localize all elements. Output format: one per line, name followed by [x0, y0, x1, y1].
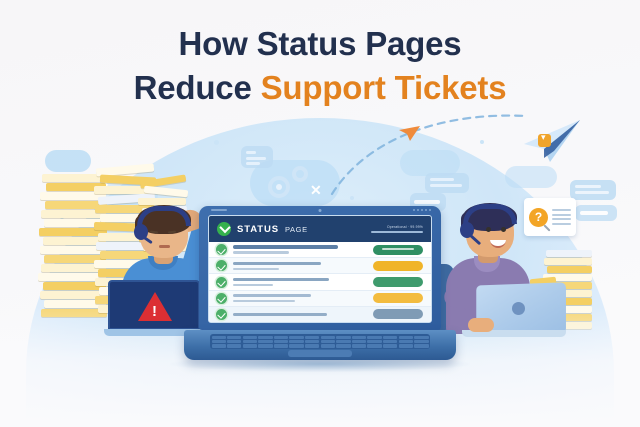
status-page-title: STATUS: [237, 224, 279, 235]
chat-bubble-icon: [241, 146, 273, 168]
check-circle-icon: [216, 293, 227, 304]
x-mark-icon: ✕: [310, 182, 322, 199]
status-badge: [373, 293, 423, 303]
title-line-2: Reduce Support Tickets: [0, 66, 640, 110]
gear-icon: [268, 176, 290, 198]
chat-bubble-icon: [575, 205, 617, 221]
poster-canvas: ✕ ✕: [0, 0, 640, 427]
laptop-trackpad[interactable]: [288, 350, 352, 357]
status-row-labels: [233, 262, 367, 271]
status-row[interactable]: [209, 307, 431, 322]
bezel-indicators: [413, 209, 431, 211]
warning-exclamation: !: [152, 304, 157, 319]
status-row-labels: [233, 245, 367, 254]
status-row-labels: [233, 294, 367, 303]
check-circle-icon: [216, 277, 227, 288]
decorative-dot: [214, 140, 219, 145]
check-circle-icon: [216, 260, 227, 271]
agent-eye-left: [486, 227, 491, 232]
laptop-lid: STATUS PAGE Operational · 99.99%: [199, 206, 441, 330]
happy-agent: [430, 192, 560, 337]
status-page-rows: [209, 242, 431, 322]
agent-hand: [468, 318, 494, 332]
status-row[interactable]: [209, 291, 431, 307]
laptop-base: [184, 330, 456, 360]
status-badge: [373, 277, 423, 287]
laptop-keyboard[interactable]: [210, 334, 430, 349]
status-row[interactable]: [209, 258, 431, 274]
status-badge: [373, 245, 423, 255]
status-page-meta-bar: [371, 231, 423, 233]
chat-bubble-icon: [570, 180, 616, 200]
plane-badge: [538, 134, 551, 147]
status-page-title-sub: PAGE: [285, 225, 308, 234]
agent-mouth: [159, 245, 170, 248]
title-line-1: How Status Pages: [0, 22, 640, 66]
title-line-2-accent: Support Tickets: [261, 69, 507, 106]
main-laptop: STATUS PAGE Operational · 99.99%: [199, 206, 441, 360]
check-circle-icon: [216, 309, 227, 320]
status-row[interactable]: [209, 242, 431, 258]
green-check-circle-icon: [217, 222, 231, 236]
arrow-marker-icon: [398, 124, 424, 144]
poster-title: How Status Pages Reduce Support Tickets: [0, 22, 640, 110]
right-laptop-logo: [512, 302, 525, 315]
headset-icon: [463, 204, 517, 224]
status-page-meta: Operational · 99.99%: [371, 225, 423, 233]
agent-eye-right: [501, 227, 506, 232]
gear-icon: [292, 166, 308, 182]
bezel-speaker: [211, 209, 227, 211]
status-badge: [373, 261, 423, 271]
dashed-trail: [330, 108, 530, 198]
status-row-labels: [233, 278, 367, 287]
title-line-2-prefix: Reduce: [134, 69, 261, 106]
status-page-meta-text: Operational · 99.99%: [387, 225, 423, 229]
left-laptop-screen: !: [108, 280, 200, 330]
headset-icon: [137, 206, 191, 226]
status-badge: [373, 309, 423, 319]
paper-plane-icon: [520, 118, 582, 169]
status-row[interactable]: [209, 274, 431, 290]
status-page-screen[interactable]: STATUS PAGE Operational · 99.99%: [208, 215, 432, 323]
status-row-labels: [233, 313, 367, 317]
webcam-icon: [319, 209, 322, 212]
check-circle-icon: [216, 244, 227, 255]
status-page-header: STATUS PAGE Operational · 99.99%: [209, 216, 431, 242]
